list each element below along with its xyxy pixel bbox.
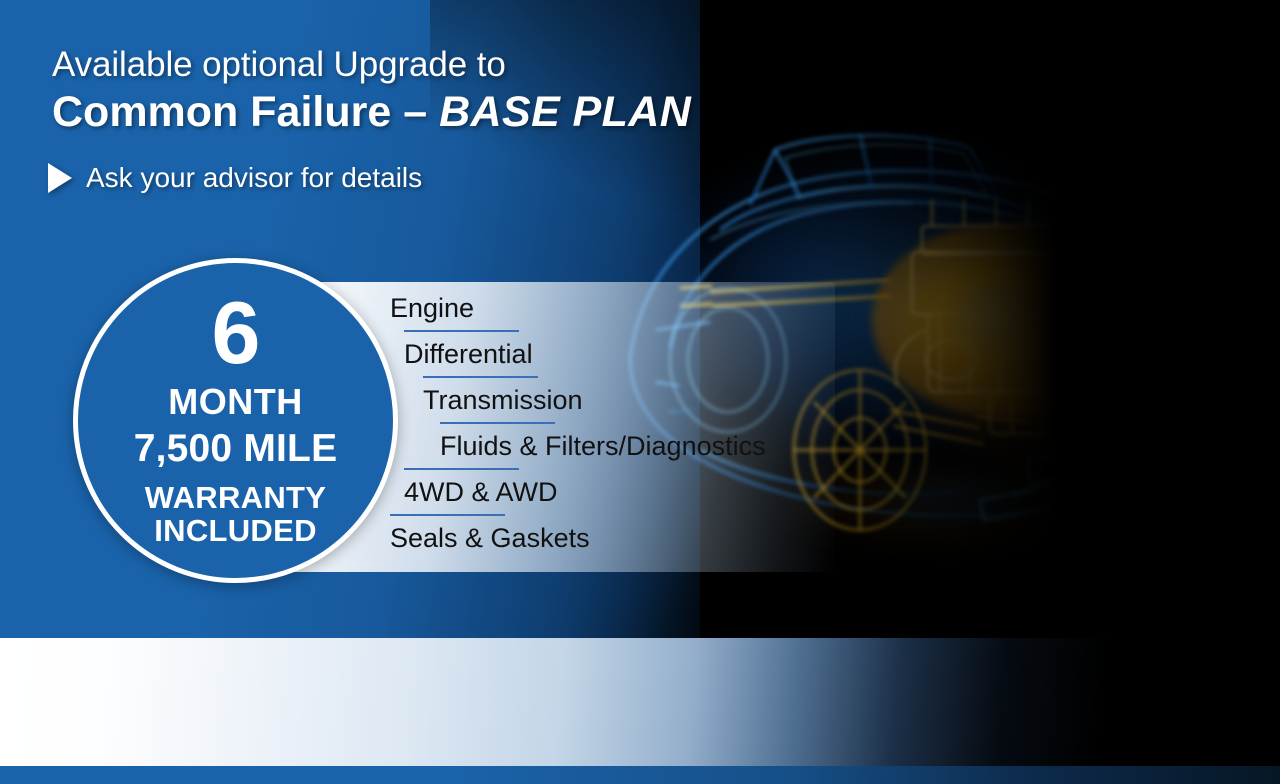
coverage-rule xyxy=(404,468,519,470)
coverage-rule xyxy=(404,330,519,332)
list-item: Engine xyxy=(390,288,835,334)
coverage-label: Differential xyxy=(404,334,533,374)
list-item: Differential xyxy=(390,334,835,380)
badge-term-unit: MONTH xyxy=(168,384,302,420)
badge-term-number: 6 xyxy=(212,293,260,374)
play-triangle-icon xyxy=(48,163,72,193)
headline-line-1: Available optional Upgrade to xyxy=(52,44,842,85)
footer-bar: PWI® PREFERRED WARRANTIES INC. BrokersAn… xyxy=(0,638,1280,766)
coverage-list: Engine Differential Transmission Fluids … xyxy=(390,282,835,572)
coverage-label: Seals & Gaskets xyxy=(390,518,590,558)
headline-plan-emphasis: BASE PLAN xyxy=(439,88,691,136)
coverage-label: 4WD & AWD xyxy=(404,472,558,512)
badge-included-text: INCLUDED xyxy=(154,514,317,547)
list-item: 4WD & AWD xyxy=(390,472,835,518)
list-item: Transmission xyxy=(390,380,835,426)
coverage-label: Fluids & Filters/Diagnostics xyxy=(440,426,766,466)
advisor-callout: Ask your advisor for details xyxy=(48,162,422,194)
headline-line-2: Common Failure – BASE PLAN xyxy=(52,87,842,139)
headline-block: Available optional Upgrade to Common Fai… xyxy=(52,44,842,139)
coverage-label: Engine xyxy=(390,288,474,328)
promo-banner: Available optional Upgrade to Common Fai… xyxy=(0,0,1280,784)
headline-plan-prefix: Common Failure – xyxy=(52,88,439,136)
coverage-rule xyxy=(390,514,505,516)
coverage-rule xyxy=(423,376,538,378)
coverage-rule xyxy=(440,422,555,424)
advisor-text: Ask your advisor for details xyxy=(86,162,422,194)
list-item: Fluids & Filters/Diagnostics xyxy=(390,426,835,472)
badge-warranty-text: WARRANTY xyxy=(145,481,327,514)
list-item: Seals & Gaskets xyxy=(390,518,835,564)
warranty-badge: 6 MONTH 7,500 MILE WARRANTY INCLUDED xyxy=(73,258,398,583)
coverage-label: Transmission xyxy=(423,380,583,420)
badge-mileage: 7,500 MILE xyxy=(134,429,338,468)
footer-bottom-strip xyxy=(0,766,1280,784)
